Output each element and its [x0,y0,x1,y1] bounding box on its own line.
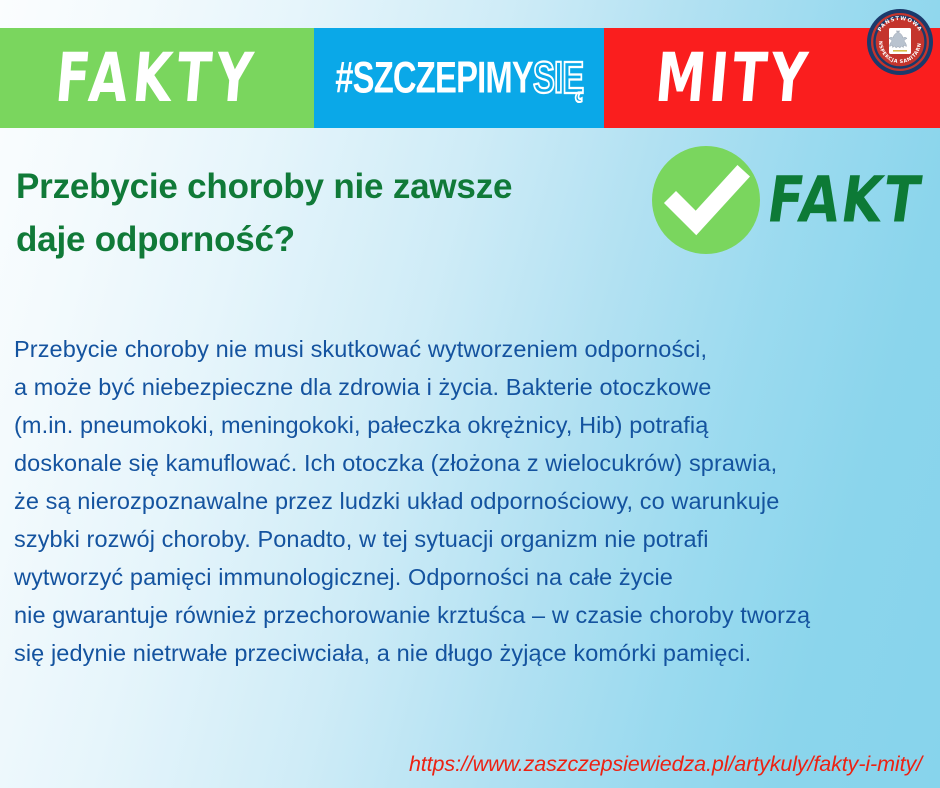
hashtag-outline-part: SIĘ [533,53,583,102]
body-line: szybki rozwój choroby. Ponadto, w tej sy… [14,520,926,558]
header-band: FAKTY #SZCZEPIMYSIĘ MITY [0,28,940,128]
campaign-hashtag: #SZCZEPIMYSIĘ [335,56,583,101]
myths-label: MITY [653,44,814,112]
panstwowa-inspekcja-sanitarna-logo: PAŃSTWOWA INSPEKCJA SANITARNA [866,8,934,76]
header-section-facts: FAKTY [0,28,314,128]
facts-label: FAKTY [53,44,260,112]
verdict-badge: FAKT [652,146,922,254]
body-line: nie gwarantuje również przechorowanie kr… [14,596,926,634]
body-line: się jedynie nietrwałe przeciwciała, a ni… [14,634,926,672]
body-line: Przebycie choroby nie musi skutkować wyt… [14,330,926,368]
question-line-2: daje odporność? [16,213,636,266]
infographic-card: FAKTY #SZCZEPIMYSIĘ MITY [0,0,940,788]
body-text: Przebycie choroby nie musi skutkować wyt… [14,330,926,672]
body-line: wytworzyć pamięci immunologicznej. Odpor… [14,558,926,596]
source-url-link[interactable]: https://www.zaszczepsiewiedza.pl/artykul… [409,752,922,777]
body-line: że są nierozpoznawalne przez ludzki ukła… [14,482,926,520]
body-line: doskonale się kamuflować. Ich otoczka (z… [14,444,926,482]
body-line: (m.in. pneumokoki, meningokoki, pałeczka… [14,406,926,444]
check-circle-icon [652,146,760,254]
question-headline: Przebycie choroby nie zawsze daje odporn… [16,160,636,266]
header-section-hashtag: #SZCZEPIMYSIĘ [314,28,604,128]
hashtag-solid-part: #SZCZEPIMY [335,53,533,102]
verdict-label: FAKT [764,169,926,232]
body-line: a może być niebezpieczne dla zdrowia i ż… [14,368,926,406]
question-line-1: Przebycie choroby nie zawsze [16,160,636,213]
